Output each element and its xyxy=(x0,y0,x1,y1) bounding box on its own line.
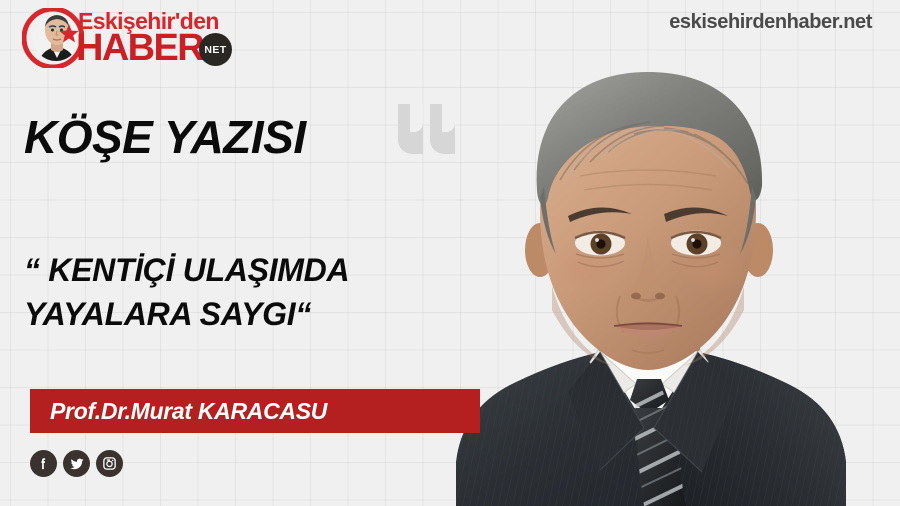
author-name: Prof.Dr.Murat KARACASU xyxy=(50,398,327,425)
twitter-icon[interactable] xyxy=(63,450,90,477)
site-logo[interactable]: Eskişehir'den HABER NET xyxy=(22,6,262,70)
quotation-mark-icon xyxy=(398,104,455,154)
logo-net-badge: NET xyxy=(199,33,232,66)
author-banner: Prof.Dr.Murat KARACASU xyxy=(30,389,480,433)
instagram-icon[interactable] xyxy=(96,450,123,477)
logo-word-bottom: HABER xyxy=(76,27,203,70)
page-title: “ KENTİÇİ ULAŞIMDA YAYALARA SAYGI“ xyxy=(24,248,464,336)
social-links xyxy=(30,450,123,477)
headline-line-1: “ KENTİÇİ ULAŞIMDA xyxy=(24,248,464,292)
site-url-label: eskisehirdenhaber.net xyxy=(669,11,872,34)
page-kicker: KÖŞE YAZISI xyxy=(24,110,306,164)
column-article-card: Eskişehir'den HABER NET eskisehirdenhabe… xyxy=(0,0,900,506)
author-portrait-photo xyxy=(448,0,900,506)
logo-wordmark: Eskişehir'den HABER NET xyxy=(78,6,268,68)
headline-line-2: YAYALARA SAYGI“ xyxy=(24,292,464,336)
facebook-icon[interactable] xyxy=(30,450,57,477)
ataturk-crescent-star-icon xyxy=(22,8,84,68)
